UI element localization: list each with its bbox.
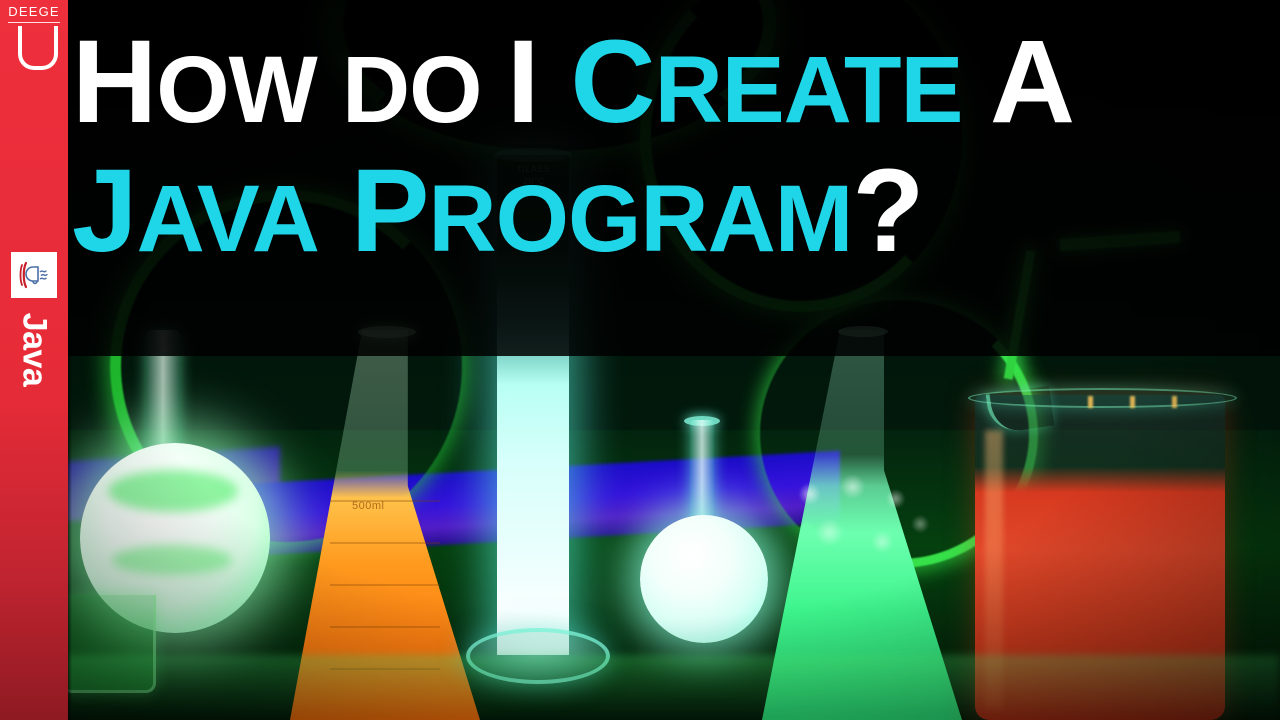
title-run: P [319,145,429,277]
title-run: ? [852,145,923,277]
brand-name-deege: DEEGE [0,4,68,19]
sidebar-vertical-label: Java [15,294,54,406]
flask-liquid-surface-left [108,470,238,512]
title-run: H [72,16,156,148]
video-thumbnail: 500ml GLASS 20°C 250 HOW DO I CREATE A J… [0,0,1280,720]
title-run: REATE [655,38,963,143]
page-title: HOW DO I CREATE A JAVA PROGRAM? [72,26,1272,269]
title-run: I [507,16,539,148]
round-bottom-flask-neck-center [690,420,714,530]
title-run: AVA [137,167,319,272]
title-run: C [539,16,655,148]
title-line-2: JAVA PROGRAM? [72,155,1272,268]
title-run: A [962,16,1074,148]
erlenmeyer-graduations-orange [330,500,440,680]
sidebar-edge-shadow [68,0,72,720]
erlenmeyer-foam-green [780,470,945,590]
round-bottom-flask-center [640,515,768,643]
title-run: OW DO [156,38,507,143]
java-cup-glyph [17,258,51,292]
java-cup-icon [11,252,57,298]
flask-liquid-lower-left [112,545,232,575]
bench-reflection [0,655,1280,720]
title-run: J [72,145,137,277]
title-run: ROGRAM [428,167,852,272]
brand-u-mark-icon [18,26,58,70]
title-line-1: HOW DO I CREATE A [72,26,1272,139]
erlenmeyer-capacity-label: 500ml [352,500,384,512]
brand-sidebar: DEEGE Java [0,0,68,720]
background-bulb-row [1088,396,1208,408]
brand-divider [8,22,60,23]
